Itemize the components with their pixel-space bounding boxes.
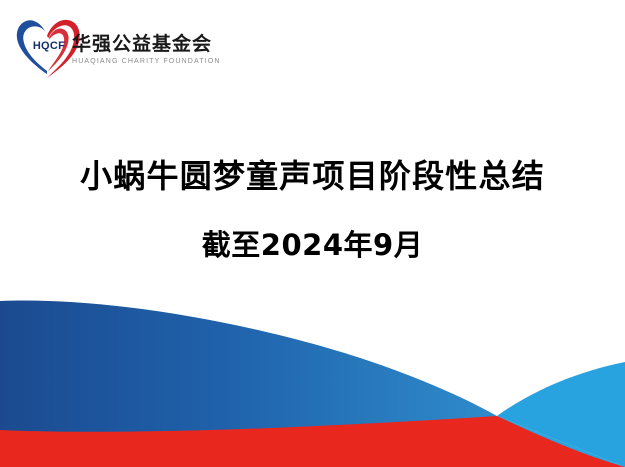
title-block: 小蜗牛圆梦童声项目阶段性总结 截至2024年9月: [0, 158, 625, 262]
wave-cyan-lower: [497, 416, 625, 467]
logo-monogram: HQCF: [29, 40, 69, 52]
logo-name-en: HUAQIANG CHARITY FOUNDATION: [72, 58, 217, 65]
logo-wordmark: 华强公益基金会 HUAQIANG CHARITY FOUNDATION: [72, 34, 217, 65]
title-slide: HQCF 华强公益基金会 HUAQIANG CHARITY FOUNDATION…: [0, 0, 625, 467]
wave-cyan: [497, 362, 625, 467]
page-title: 小蜗牛圆梦童声项目阶段性总结: [0, 158, 625, 195]
logo-name-cn: 华强公益基金会: [72, 34, 217, 55]
wave-red: [0, 416, 625, 467]
page-subtitle: 截至2024年9月: [0, 229, 625, 262]
wave-blue: [0, 301, 497, 448]
foundation-logo: HQCF 华强公益基金会 HUAQIANG CHARITY FOUNDATION: [14, 16, 214, 82]
